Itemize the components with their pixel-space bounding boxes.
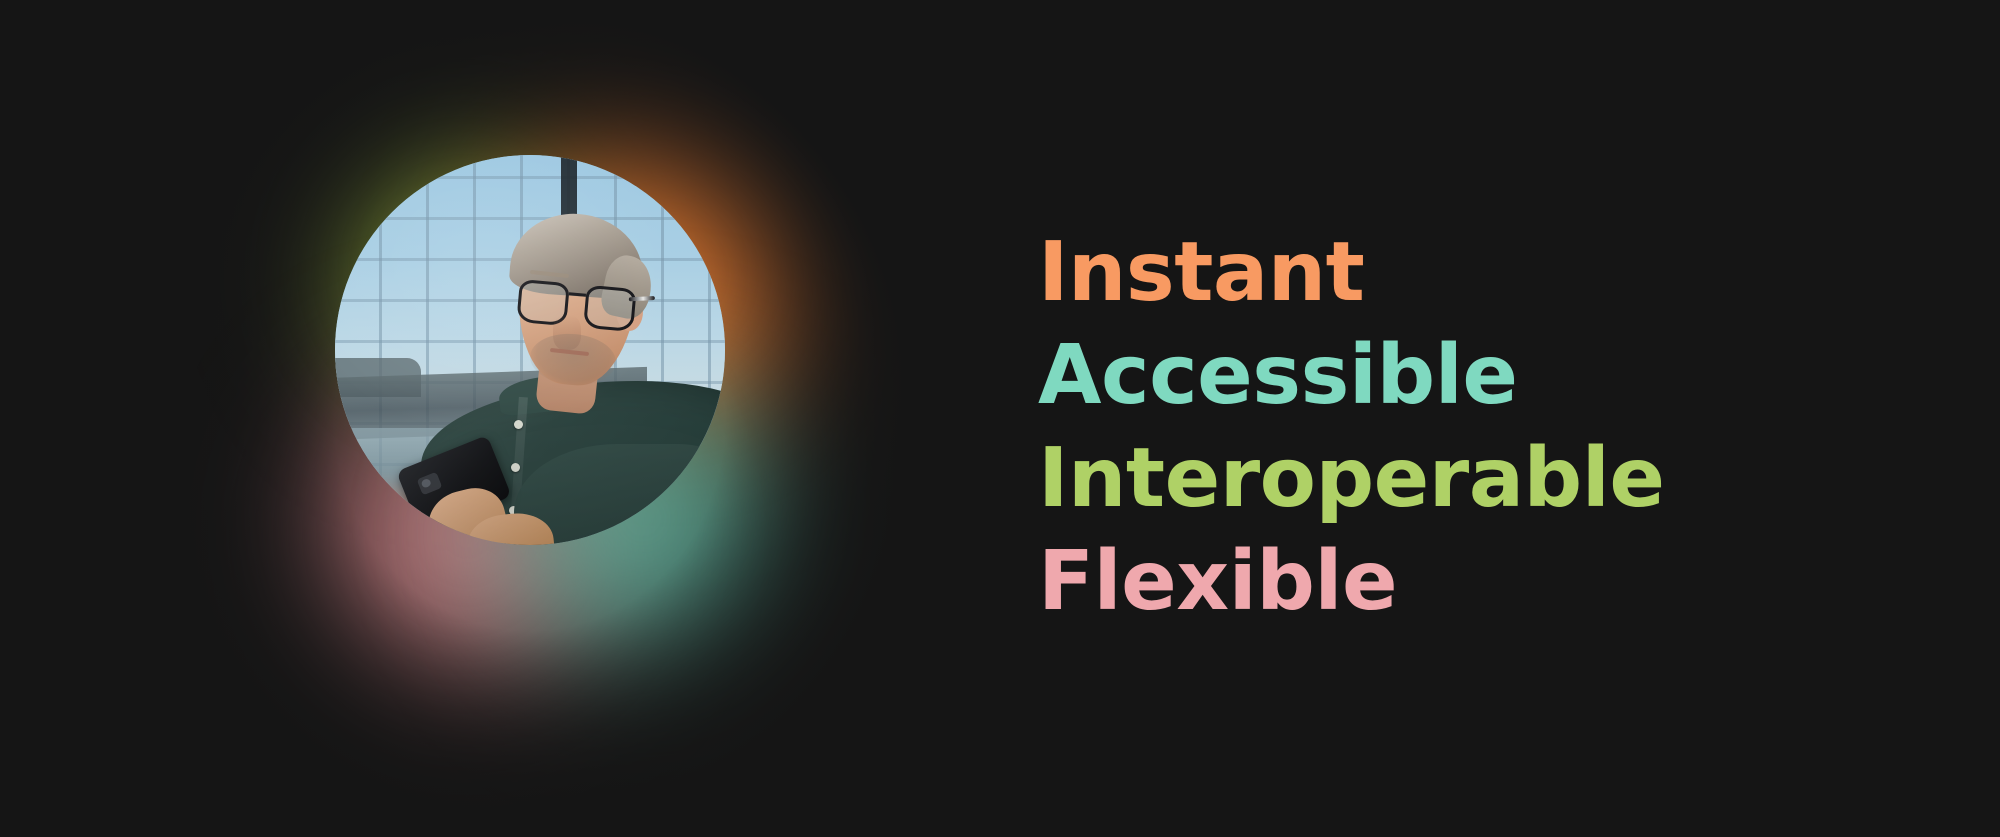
feature-word-interoperable: Interoperable (1038, 427, 1798, 530)
feature-word-instant: Instant (1038, 221, 1798, 324)
shirt-button (511, 463, 520, 472)
media-stage (180, 0, 880, 837)
eyeglass-bridge (569, 292, 586, 296)
feature-word-list: Instant Accessible Interoperable Flexibl… (1038, 221, 1798, 633)
circular-photo (335, 155, 725, 545)
hero-section: Instant Accessible Interoperable Flexibl… (0, 0, 2000, 837)
eyeglass-temple (629, 296, 655, 301)
person-figure (335, 155, 725, 545)
feature-word-accessible: Accessible (1038, 324, 1798, 427)
photo-scene (335, 155, 725, 545)
eyeglass-lens-right (583, 284, 637, 331)
feature-word-flexible: Flexible (1038, 530, 1798, 633)
phone-camera-module (416, 472, 442, 496)
